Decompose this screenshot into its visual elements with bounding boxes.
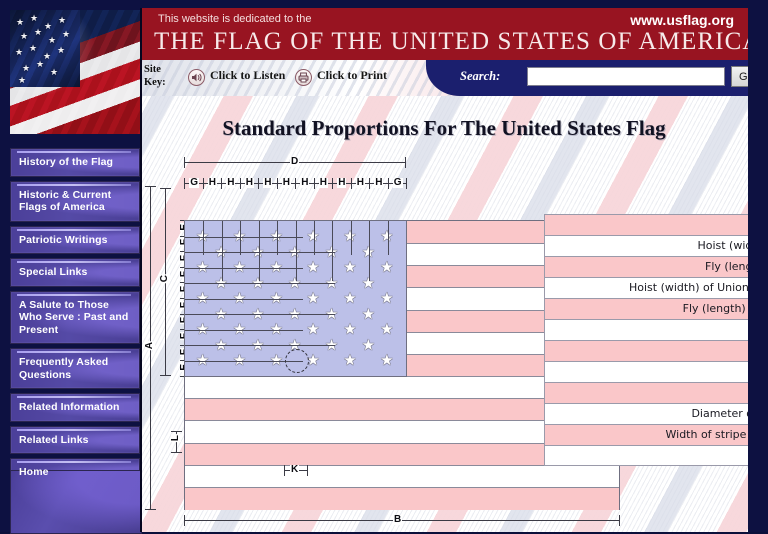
- union-star: ★: [306, 291, 319, 306]
- table-row: [544, 214, 748, 235]
- dim-GH-tick: [258, 178, 259, 189]
- dim-GH-tick: [184, 178, 185, 189]
- dim-GH-tick: [295, 178, 296, 189]
- right-gutter: [748, 0, 768, 532]
- dim-GH-label: H: [374, 178, 383, 188]
- content-frame: This website is dedicated to the www.usf…: [140, 8, 748, 532]
- union-star: ★: [343, 353, 356, 368]
- photo-star: ★: [16, 18, 24, 27]
- union-star: ★: [306, 322, 319, 337]
- dim-GH-tick: [332, 178, 333, 189]
- sidebar-item-label: Frequently Asked Questions: [19, 356, 133, 381]
- header-site-url: www.usflag.org: [630, 12, 734, 28]
- sidebar-item-5[interactable]: Frequently Asked Questions: [10, 348, 140, 389]
- sidebar-nav: History of the FlagHistoric & Current Fl…: [10, 148, 140, 491]
- row-description: Fly (length) of Union: [683, 302, 748, 315]
- dim-C-tick-top: [160, 188, 171, 189]
- union-star: ★: [380, 260, 393, 275]
- sidebar-item-label: Related Information: [19, 401, 133, 414]
- table-row: Fly (length) of flag (B)=1.9: [544, 256, 748, 277]
- table-row: Width of stripe (L)= 0.0769( 1/13): [544, 424, 748, 445]
- sidebar-item-2[interactable]: Patriotic Writings: [10, 226, 140, 255]
- search-input[interactable]: [527, 67, 725, 86]
- union-guideline-horizontal: [185, 330, 303, 331]
- site-header: This website is dedicated to the www.usf…: [140, 8, 748, 60]
- union-guideline-vertical: [388, 221, 389, 255]
- sidebar-item-label: Related Links: [19, 434, 133, 447]
- photo-star: ★: [29, 44, 37, 53]
- union-star: ★: [380, 353, 393, 368]
- union-star: ★: [380, 291, 393, 306]
- sidebar-item-label: Historic & Current Flags of America: [19, 189, 133, 214]
- photo-star: ★: [57, 46, 65, 55]
- union-guideline-horizontal: [185, 268, 303, 269]
- row-description: Diameter of star: [691, 407, 748, 420]
- dim-GH-tick: [314, 178, 315, 189]
- union-star: ★: [362, 338, 375, 353]
- dim-L-tick-top: [171, 431, 182, 432]
- sidebar-item-label: Patriotic Writings: [19, 234, 133, 247]
- table-row: (G)= 0.063: [544, 361, 748, 382]
- dim-K-tick-right: [307, 465, 308, 476]
- flag-stripe: [185, 487, 619, 510]
- table-row: Fly (length) of Union (D)= 0.76: [544, 298, 748, 319]
- proportions-table: Hoist (width) of flag (A)=1.0Fly (length…: [544, 214, 748, 466]
- flag-union: ★★★★★★★★★★★★★★★★★★★★★★★★★★★★★★★★★★★★★★★★…: [185, 221, 407, 377]
- union-guideline-vertical: [203, 221, 204, 255]
- dim-GH-tick: [369, 178, 370, 189]
- photo-star: ★: [43, 52, 51, 61]
- dim-GH-label: H: [245, 178, 254, 188]
- union-guideline-vertical: [222, 221, 223, 281]
- table-row: (H)= 0.063: [544, 382, 748, 403]
- printer-icon[interactable]: [295, 69, 312, 86]
- sidebar-item-7[interactable]: Related Links: [10, 426, 140, 455]
- photo-star: ★: [62, 30, 70, 39]
- union-guideline-horizontal: [185, 376, 335, 377]
- union-guideline-horizontal: [185, 299, 303, 300]
- table-row: (F)= 0.054: [544, 340, 748, 361]
- union-guideline-vertical: [314, 221, 315, 255]
- dim-A-label: A: [145, 341, 155, 350]
- dim-GH-tick: [221, 178, 222, 189]
- dim-GH-tick: [388, 178, 389, 189]
- main-content-area: Standard Proportions For The United Stat…: [140, 96, 748, 532]
- sidebar-decoration-panel: [10, 470, 142, 534]
- dim-D-label: D: [290, 157, 299, 167]
- union-star: ★: [343, 322, 356, 337]
- dim-GH-label: G: [189, 178, 199, 188]
- dim-C-label: C: [160, 274, 170, 283]
- photo-star: ★: [48, 36, 56, 45]
- union-guideline-vertical: [332, 221, 333, 281]
- photo-star: ★: [15, 48, 23, 57]
- table-row: Diameter of star (K)= 0.0616: [544, 403, 748, 424]
- photo-star: ★: [36, 60, 44, 69]
- row-description: Fly (length) of flag: [705, 260, 748, 273]
- union-star: ★: [343, 260, 356, 275]
- dim-GH-label: H: [356, 178, 365, 188]
- dim-B-label: B: [393, 515, 402, 525]
- sidebar: ★★★★★★★★★★★★★★★★ History of the FlagHist…: [0, 0, 140, 532]
- union-star: ★: [343, 291, 356, 306]
- sidebar-item-label: Home: [19, 466, 133, 479]
- dim-A-tick-bottom: [145, 509, 156, 510]
- dim-A-tick-top: [145, 186, 156, 187]
- header-dedication-text: This website is dedicated to the: [158, 13, 311, 25]
- dim-L-tick-bottom: [171, 452, 182, 453]
- photo-star: ★: [30, 14, 38, 23]
- dim-GH-label: H: [300, 178, 309, 188]
- photo-star: ★: [18, 76, 26, 85]
- dim-GH-label: H: [226, 178, 235, 188]
- union-guideline-vertical: [277, 221, 278, 255]
- flag-stripe: [185, 465, 619, 488]
- union-guideline-vertical: [240, 221, 241, 255]
- search-label: Search:: [460, 69, 500, 84]
- search-pane: Search: GO: [426, 60, 748, 96]
- dim-D-tick-right: [405, 157, 406, 168]
- sidebar-item-3[interactable]: Special Links: [10, 258, 140, 287]
- union-guideline-vertical: [296, 221, 297, 281]
- photo-star: ★: [20, 32, 28, 41]
- dim-GH-tick: [351, 178, 352, 189]
- sidebar-item-4[interactable]: A Salute to Those Who Serve : Past and P…: [10, 291, 140, 345]
- page-root: ★★★★★★★★★★★★★★★★ History of the FlagHist…: [0, 0, 768, 532]
- union-guideline-horizontal: [185, 314, 335, 315]
- union-star: ★: [306, 260, 319, 275]
- sidebar-item-0[interactable]: History of the Flag: [10, 148, 140, 177]
- dim-GH-label: H: [319, 178, 328, 188]
- dim-K-tick-left: [284, 465, 285, 476]
- header-main-title: THE FLAG OF THE UNITED STATES OF AMERICA: [154, 28, 738, 56]
- dim-C-tick-bottom: [160, 375, 171, 376]
- table-row: Hoist (width) of Union (C)=0.5385 (7/13): [544, 277, 748, 298]
- waving-american-flag-photo: ★★★★★★★★★★★★★★★★: [10, 10, 140, 134]
- click-to-listen-label[interactable]: Click to Listen: [210, 68, 285, 83]
- union-guideline-horizontal: [185, 345, 335, 346]
- union-guideline-horizontal: [185, 252, 335, 253]
- row-description: Width of stripe: [666, 428, 749, 441]
- photo-star: ★: [44, 22, 52, 31]
- dim-GH-tick: [277, 178, 278, 189]
- dim-GH-tick: [406, 178, 407, 189]
- union-guideline-vertical: [369, 221, 370, 281]
- dim-GH-tick: [203, 178, 204, 189]
- union-guideline-vertical: [259, 221, 260, 281]
- photo-star: ★: [50, 68, 58, 77]
- site-key-line1: Site: [144, 64, 161, 75]
- dim-D-tick-left: [184, 157, 185, 168]
- union-guideline-horizontal: [185, 283, 335, 284]
- union-star: ★: [362, 307, 375, 322]
- table-row: (E)= 0.054: [544, 319, 748, 340]
- search-go-button[interactable]: GO: [731, 66, 748, 87]
- dim-GH-label: H: [263, 178, 272, 188]
- photo-star: ★: [22, 64, 30, 73]
- row-description: Hoist (width) of flag: [697, 239, 748, 252]
- photo-star: ★: [58, 16, 66, 25]
- row-description: Hoist (width) of Union: [629, 281, 748, 294]
- dim-GH-tick: [240, 178, 241, 189]
- speaker-icon[interactable]: [188, 69, 205, 86]
- dim-GH-label: H: [208, 178, 217, 188]
- sidebar-item-label: Special Links: [19, 266, 133, 279]
- site-key-line2: Key:: [144, 77, 166, 88]
- table-row: Hoist (width) of flag (A)=1.0: [544, 235, 748, 256]
- dim-K-label: K: [290, 465, 299, 475]
- table-row: [544, 445, 748, 466]
- sidebar-item-label: History of the Flag: [19, 156, 133, 169]
- sidebar-item-1[interactable]: Historic & Current Flags of America: [10, 181, 140, 222]
- dim-L-label: L: [171, 434, 181, 442]
- dim-GH-label: H: [337, 178, 346, 188]
- dim-GH-label: H: [282, 178, 291, 188]
- dim-GH-label: G: [393, 178, 403, 188]
- sidebar-item-label: A Salute to Those Who Serve : Past and P…: [19, 299, 133, 337]
- star-diameter-circle: [285, 349, 309, 373]
- dim-B-tick-left: [184, 515, 185, 526]
- photo-star: ★: [34, 28, 42, 37]
- union-guideline-vertical: [351, 221, 352, 255]
- dim-B-tick-right: [619, 515, 620, 526]
- site-key-label: Site Key:: [144, 63, 166, 89]
- union-star: ★: [380, 322, 393, 337]
- click-to-print-label[interactable]: Click to Print: [317, 68, 387, 83]
- sidebar-item-6[interactable]: Related Information: [10, 393, 140, 422]
